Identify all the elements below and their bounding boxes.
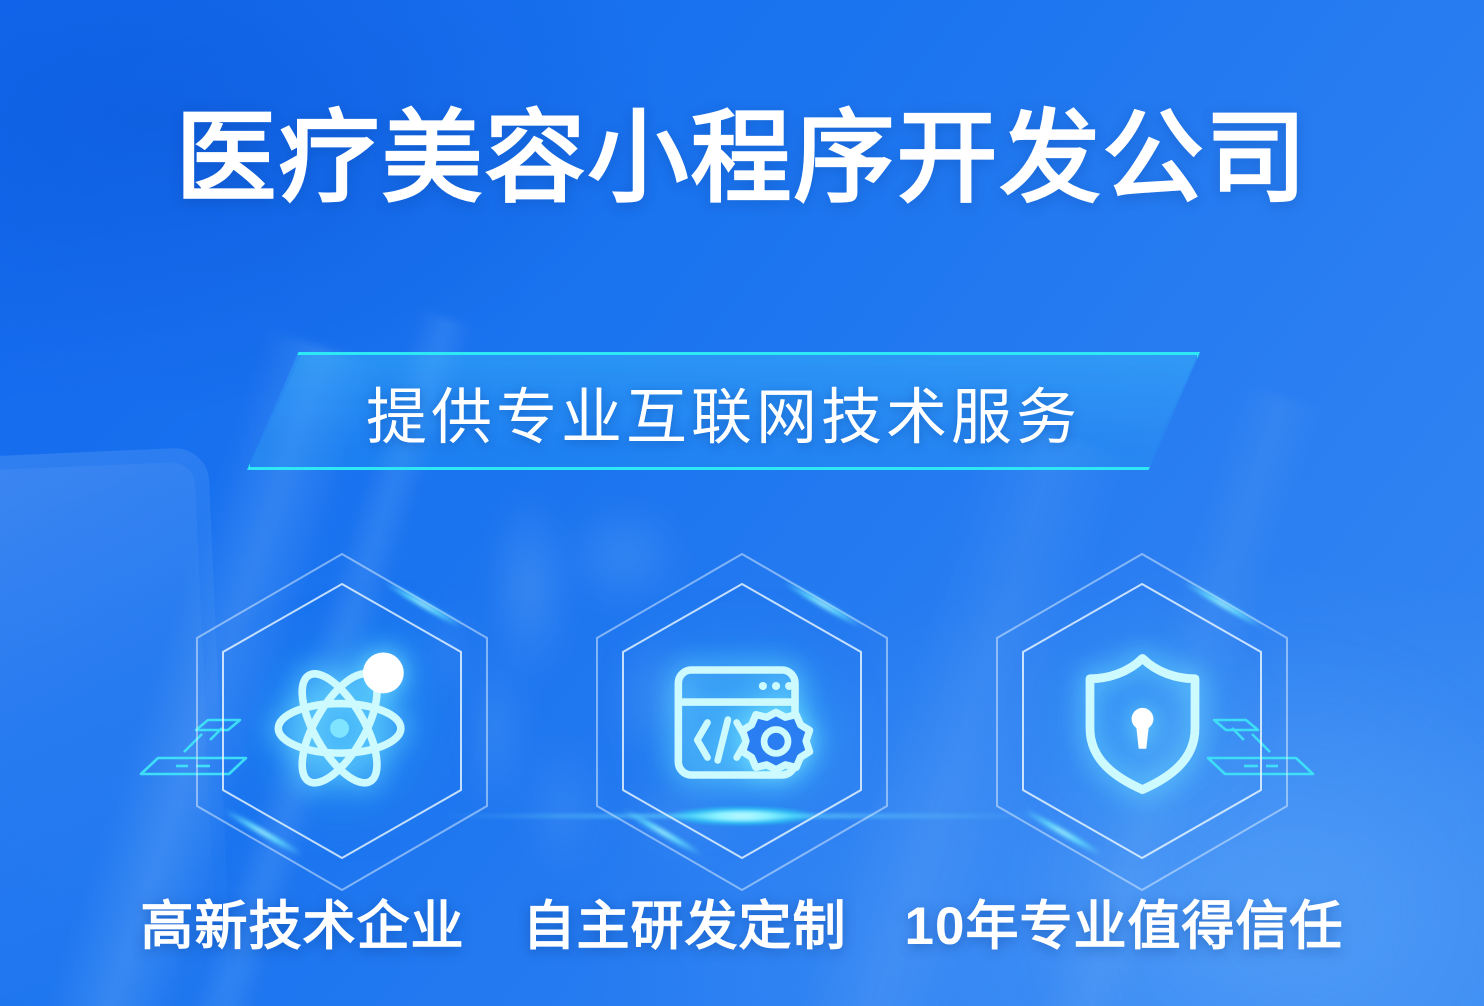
feature-caption-row: 高新技术企业 自主研发定制 10年专业值得信任 [0,884,1484,960]
subtitle-text: 提供专业互联网技术服务 [247,352,1200,470]
feature-caption: 自主研发定制 [523,884,847,960]
shield-lock-icon [1055,635,1230,810]
atom-icon [255,635,430,810]
feature-item [977,548,1307,893]
feature-item [577,548,907,893]
feature-caption: 高新技术企业 [141,884,465,960]
feature-item [177,548,507,893]
feature-icon-row [0,548,1484,893]
subtitle-banner: 提供专业互联网技术服务 [0,350,1484,475]
code-window-gear-icon [655,635,830,810]
page-title: 医疗美容小程序开发公司 [0,103,1484,216]
feature-caption: 10年专业值得信任 [905,884,1344,960]
promo-banner: 医疗美容小程序开发公司 提供专业互联网技术服务 [0,0,1484,1006]
